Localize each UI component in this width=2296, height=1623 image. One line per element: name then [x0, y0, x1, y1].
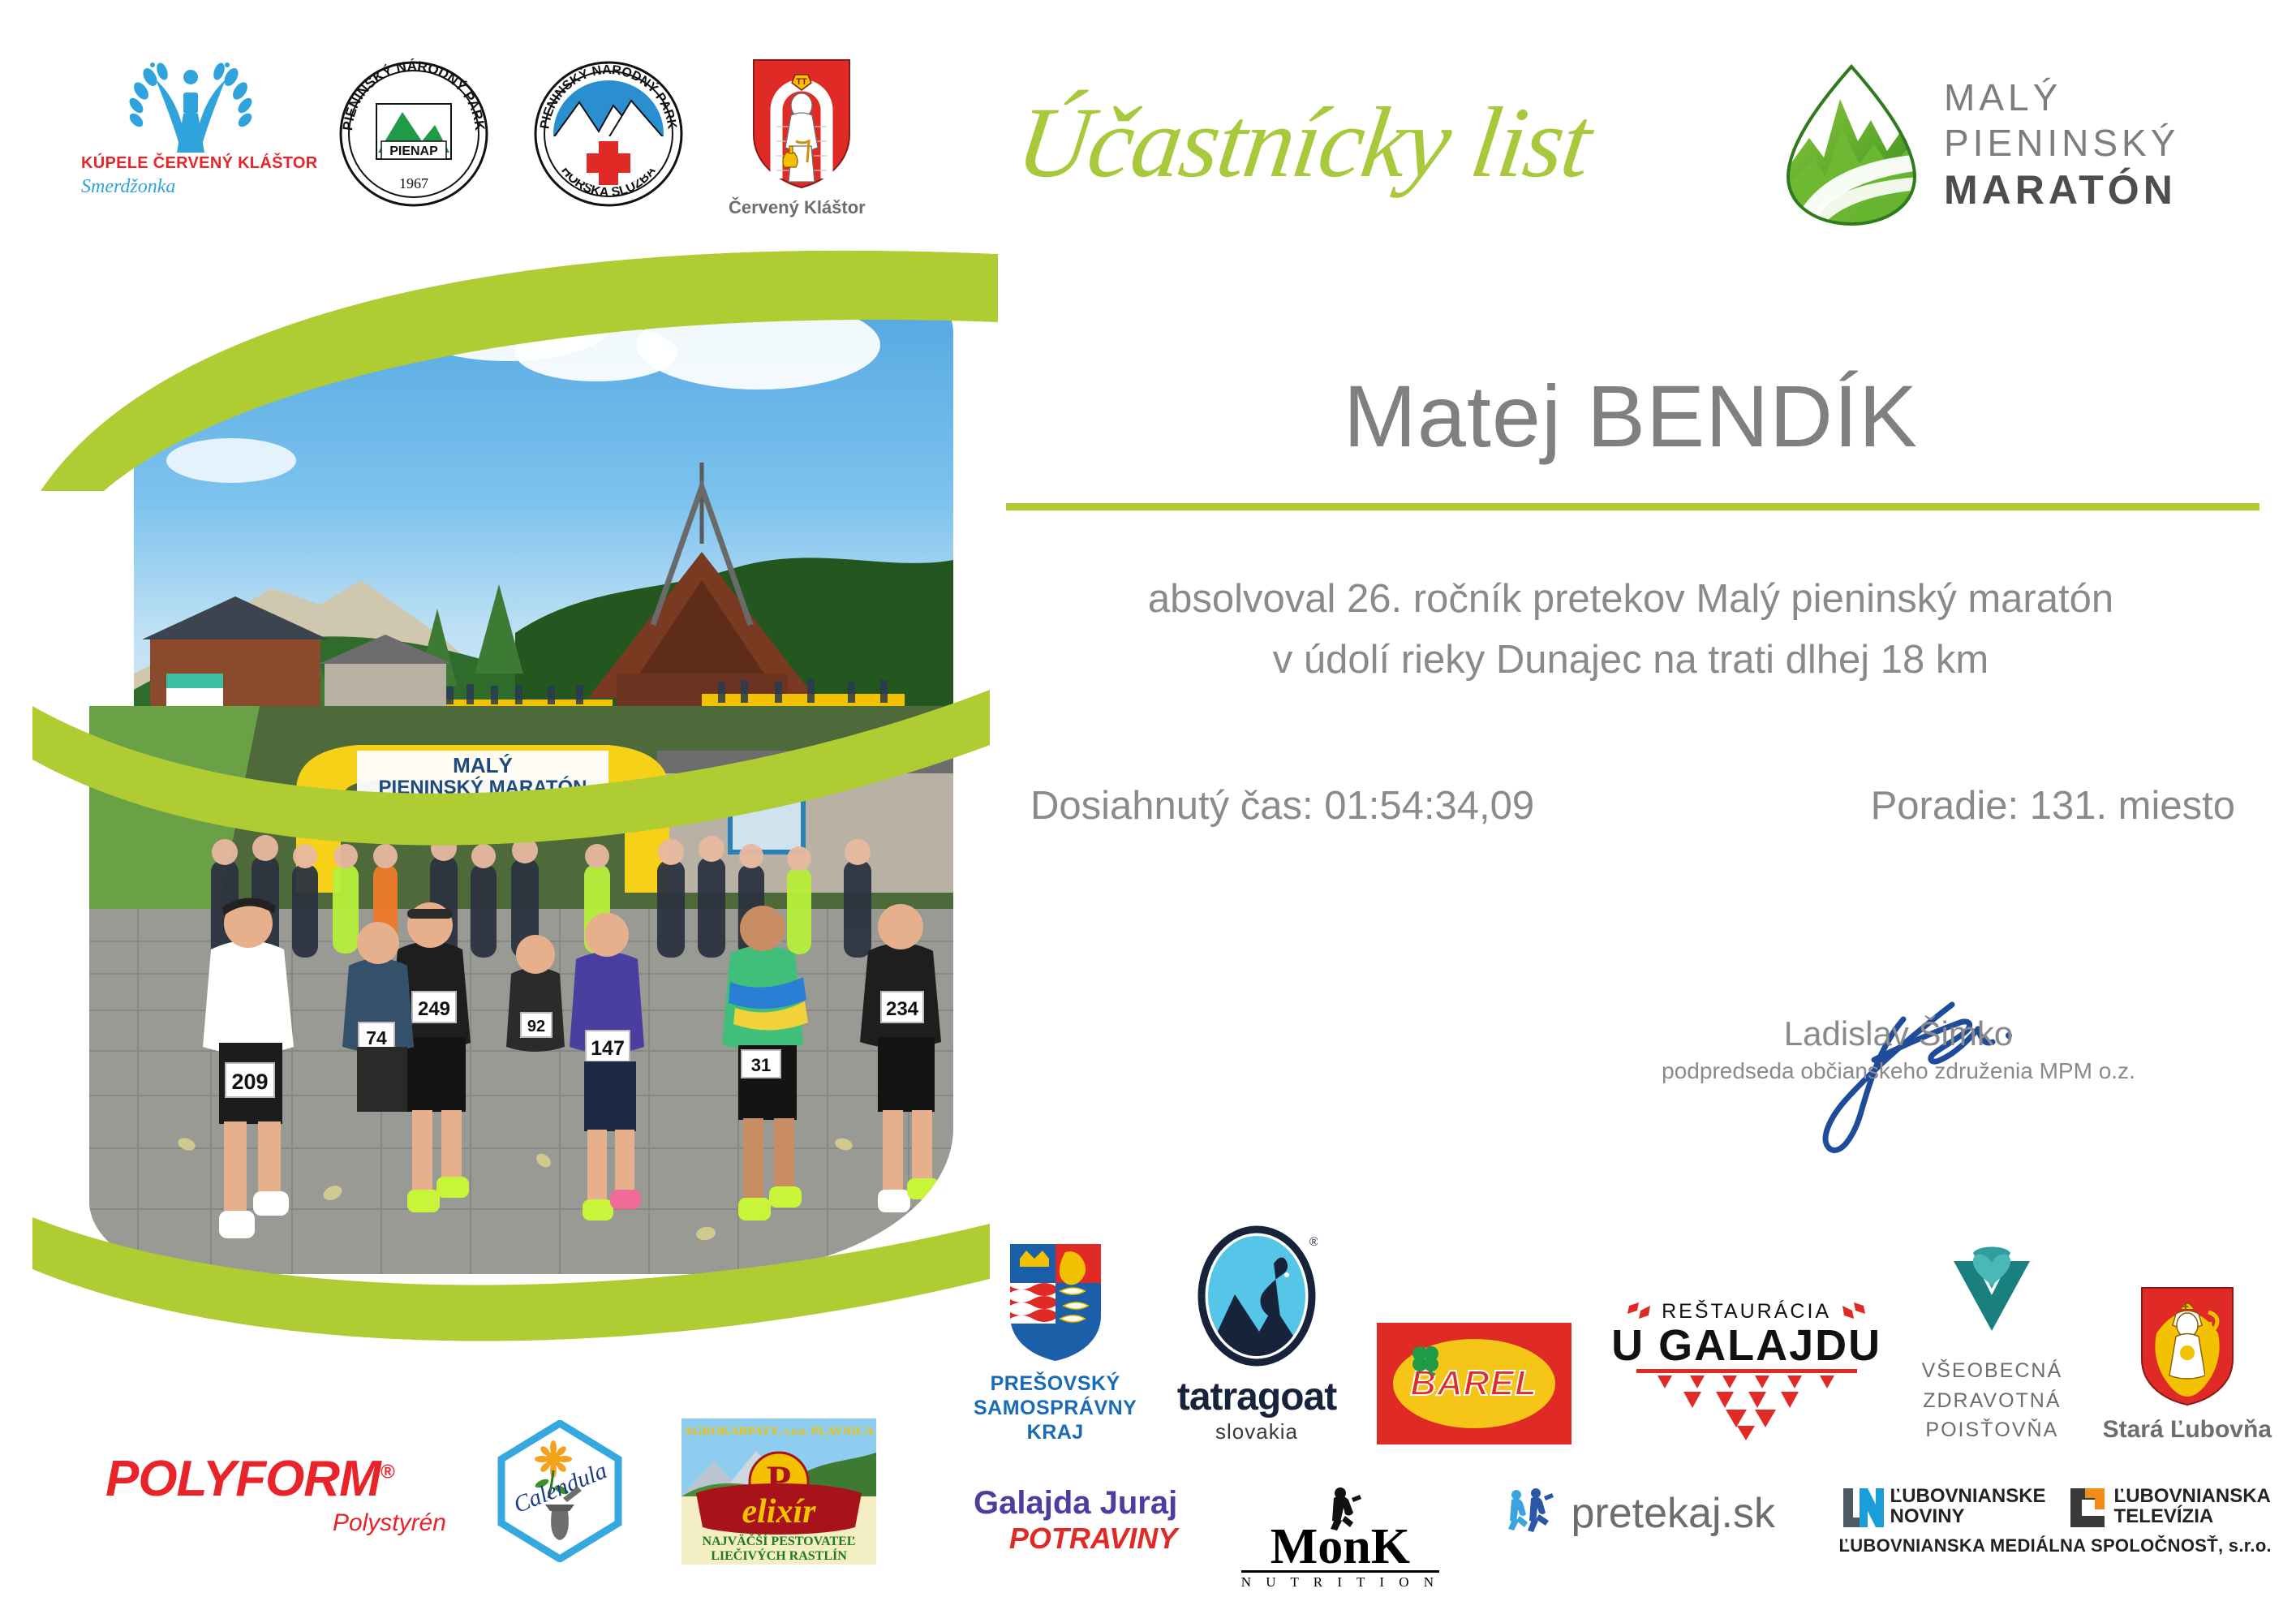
elixir-word: elixír — [742, 1493, 817, 1530]
pretekaj-word: pretekaj.sk — [1572, 1489, 1775, 1538]
result-stats: Dosiahnutý čas: 01:54:34,09 Poradie: 131… — [1006, 783, 2259, 829]
stara-lubovna-crest-icon — [2139, 1285, 2236, 1406]
svg-text:PIENAP: PIENAP — [389, 144, 438, 158]
logo-agrokarpaty-elixir: AGROKARPATY, s.r.o. PLAVNICA P elixír NA… — [681, 1419, 884, 1569]
ln-mark-icon — [1840, 1485, 1884, 1527]
svg-text:209: 209 — [231, 1070, 268, 1094]
elixir-caption-1: NAJVÄČŠÍ PESTOVATEĽ — [703, 1533, 856, 1548]
ugalajdu-line2: U GALAJDU — [1611, 1324, 1881, 1367]
folk-embroidery-icon — [1625, 1367, 1868, 1440]
polyform-sub: Polystyrén — [105, 1509, 446, 1537]
logo-calendula: Calendula — [495, 1420, 633, 1566]
logo-galajda-juraj-potraviny: Galajda Juraj POTRAVINY — [974, 1485, 1177, 1556]
elixir-label-icon: AGROKARPATY, s.r.o. PLAVNICA P elixír NA… — [681, 1419, 876, 1565]
logo-polyform: POLYFORM® Polystyrén — [105, 1450, 446, 1537]
svg-text:249: 249 — [418, 998, 450, 1020]
page-title: Účastnícky list — [1010, 85, 1597, 200]
logo-stara-lubovna: Stará Ľubovňa — [2103, 1285, 2272, 1444]
ln-caption: ĽUBOVNIANSKE NOVINY — [1890, 1486, 2046, 1526]
svg-text:92: 92 — [527, 1018, 545, 1035]
bottom-left-sponsor-row: POLYFORM® Polystyrén — [105, 1412, 982, 1574]
logo-tatragoat: ® tatragoat slovakia — [1177, 1225, 1336, 1444]
folk-ornament-left-icon — [1626, 1301, 1653, 1324]
logo-barel: BAREL — [1377, 1323, 1572, 1444]
finish-rank: Poradie: 131. miesto — [1871, 783, 2235, 829]
vzp-v-icon — [1931, 1242, 2053, 1347]
vzp-caption: VŠEOBECNÁZDRAVOTNÁPOISŤOVŇA — [1922, 1356, 2063, 1444]
svg-text:74: 74 — [366, 1027, 387, 1048]
lms-footer: ĽUBOVNIANSKA MEDIÁLNA SPOLOČNOSŤ, s.r.o. — [1838, 1535, 2272, 1556]
sponsor-row-2: Galajda Juraj POTRAVINY MonK N U T R I T… — [974, 1485, 2272, 1607]
galajda-line1: Galajda Juraj — [974, 1485, 1177, 1522]
two-runners-icon — [1503, 1485, 1560, 1542]
calendula-hex-icon: Calendula — [495, 1420, 625, 1562]
mpm-leaf-mountain-icon — [1777, 63, 1923, 226]
photo-collage: MALÝ PIENINSKÝ MARATÓN — [65, 162, 965, 1436]
certificate-page: KÚPELE ČERVENÝ KLÁŠTOR Smerdžonka PIENIN… — [0, 0, 2296, 1623]
folk-ornament-right-icon — [1839, 1301, 1867, 1324]
signature-block: Ladislav Šimko podpredseda občianskeho z… — [1655, 1014, 2142, 1084]
clover-icon — [1408, 1342, 1443, 1378]
accent-divider — [1006, 503, 2259, 510]
elixir-caption-2: LIEČIVÝCH RASTLÍN — [711, 1548, 847, 1563]
participant-name: Matej BENDÍK — [1006, 365, 2255, 467]
logo-lubovnianska-medialna-spolocnost: ĽUBOVNIANSKE NOVINY ĽUBOVNIANSKA TELEVÍZ… — [1838, 1485, 2272, 1556]
logo-restauracia-u-galajdu: REŠTAURÁCIA U GALAJDU — [1611, 1300, 1881, 1444]
ltv-mark-icon — [2067, 1485, 2108, 1527]
svg-text:TT: TT — [796, 77, 807, 87]
psk-caption: PREŠOVSKÝSAMOSPRÁVNYKRAJ — [974, 1371, 1137, 1444]
elixir-top-caption: AGROKARPATY, s.r.o. PLAVNICA — [684, 1425, 874, 1438]
sponsor-row-1: PREŠOVSKÝSAMOSPRÁVNYKRAJ ® tatragoat slo — [974, 1233, 2272, 1444]
tatragoat-oval-icon: ® — [1196, 1225, 1318, 1371]
svg-text:234: 234 — [886, 998, 919, 1020]
achievement-line-1: absolvoval 26. ročník pretekov Malý pien… — [1006, 576, 2255, 622]
event-logo: MALÝ PIENINSKÝ MARATÓN — [1777, 63, 2179, 226]
logo-vseobecna-zdravotna-poistovna: VŠEOBECNÁZDRAVOTNÁPOISŤOVŇA — [1922, 1242, 2063, 1444]
logo-pretekaj-sk: pretekaj.sk — [1503, 1485, 1775, 1542]
logo-presovsky-samospravny-kraj: PREŠOVSKÝSAMOSPRÁVNYKRAJ — [974, 1241, 1137, 1444]
event-logo-word-2: PIENINSKÝ — [1944, 124, 2179, 161]
water-wings-icon — [81, 57, 300, 154]
event-logo-word-3: MARATÓN — [1944, 170, 2179, 210]
green-swoosh-middle — [32, 682, 990, 860]
signature-name: Ladislav Šimko — [1655, 1014, 2142, 1053]
svg-text:31: 31 — [751, 1055, 771, 1075]
tatragoat-sub: slovakia — [1177, 1419, 1336, 1444]
psk-crest-icon — [1007, 1241, 1104, 1363]
stara-lubovna-caption: Stará Ľubovňa — [2103, 1415, 2272, 1444]
galajda-line2: POTRAVINY — [974, 1522, 1177, 1556]
event-logo-word-1: MALÝ — [1944, 79, 2179, 116]
ugalajdu-line1: REŠTAURÁCIA — [1662, 1300, 1831, 1324]
monk-word: MonK — [1241, 1525, 1439, 1570]
green-swoosh-bottom — [32, 1209, 990, 1355]
tatragoat-word: tatragoat — [1177, 1375, 1336, 1419]
ltv-caption: ĽUBOVNIANSKA TELEVÍZIA — [2114, 1486, 2271, 1526]
polyform-reg: ® — [381, 1461, 394, 1483]
logo-monk-nutrition: MonK N U T R I T I O N — [1241, 1485, 1439, 1591]
signature-role: podpredseda občianskeho združenia MPM o.… — [1655, 1058, 2142, 1084]
polyform-word: POLYFORM — [105, 1451, 381, 1507]
green-swoosh-top — [41, 248, 998, 491]
svg-text:147: 147 — [591, 1037, 625, 1060]
finish-time: Dosiahnutý čas: 01:54:34,09 — [1030, 783, 1534, 829]
svg-text:®: ® — [1309, 1235, 1318, 1249]
achievement-line-2: v údolí rieky Dunajec na trati dlhej 18 … — [1006, 637, 2255, 682]
